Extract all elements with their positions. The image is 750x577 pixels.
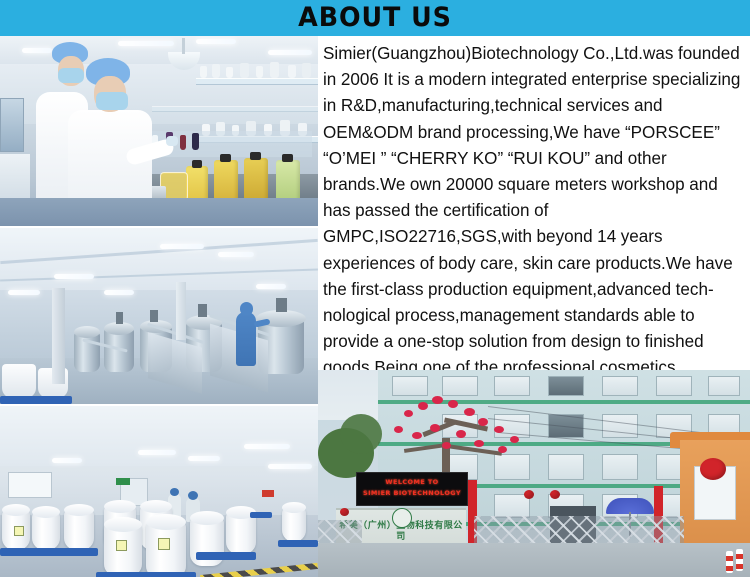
worker-in-blue-suit <box>236 312 256 366</box>
led-welcome-sign: WELCOME TO SIMIER BIOTECHNOLOGY <box>356 472 468 506</box>
traffic-cone <box>736 549 743 571</box>
factory-scene: WELCOME TO SIMIER BIOTECHNOLOGY 希美（广州）生物… <box>318 370 750 577</box>
lab-shelf <box>152 106 318 112</box>
barrel-lid <box>104 500 136 513</box>
lab-cabinet <box>0 98 24 152</box>
blue-pallet <box>0 396 72 404</box>
worker-hood <box>240 302 253 315</box>
ceiling-light <box>256 284 286 289</box>
face-mask <box>58 68 84 83</box>
barrel-lid <box>190 511 224 525</box>
laboratory-scene <box>0 36 318 226</box>
mixing-tank <box>74 332 100 372</box>
ceiling-light <box>52 458 82 463</box>
kapok-blossom <box>430 424 440 432</box>
production-workshop-photo <box>0 228 318 404</box>
about-us-page: ABOUT US <box>0 0 750 577</box>
bottle-cap <box>220 154 231 162</box>
driveway <box>318 543 750 577</box>
blue-pallet <box>96 572 196 577</box>
barrel-lid <box>146 514 186 530</box>
red-lantern <box>340 508 349 516</box>
gloved-hand <box>166 136 178 146</box>
exit-sign <box>116 478 130 485</box>
barrel-label <box>116 540 127 551</box>
about-us-banner: ABOUT US <box>0 0 750 36</box>
about-text-panel: Simier(Guangzhou)Biotechnology Co.,Ltd.w… <box>318 36 750 370</box>
face-mask <box>96 92 128 110</box>
barrel-lid <box>140 500 172 513</box>
ceiling-light <box>118 41 174 46</box>
bottle-cap <box>192 160 202 168</box>
reagent-bottle <box>288 65 296 78</box>
red-lantern <box>550 490 560 499</box>
reagent-bottle <box>240 63 249 78</box>
blue-pallet <box>196 552 256 560</box>
fire-sign <box>262 490 274 497</box>
building-window <box>602 414 638 438</box>
kapok-blossom <box>418 402 428 410</box>
warehouse-ceiling <box>0 406 318 466</box>
agitator-motor <box>198 304 207 317</box>
kapok-blossom <box>412 432 422 439</box>
kapok-blossom <box>478 418 488 426</box>
ceiling-light <box>244 444 290 449</box>
barrel-lid <box>282 502 306 513</box>
bottle-cap <box>282 154 293 162</box>
barrel-lid <box>32 506 60 518</box>
building-window <box>602 454 638 480</box>
building-window <box>708 376 740 396</box>
hood-stem <box>182 38 185 54</box>
laboratory-photo <box>0 36 318 226</box>
ceiling-light <box>22 48 52 53</box>
warehouse-scene <box>0 406 318 577</box>
kapok-blossom <box>448 400 458 408</box>
office-window <box>8 472 52 498</box>
ceiling-light <box>138 450 176 455</box>
facility-photo-column <box>0 36 318 577</box>
ceiling-light <box>196 39 236 44</box>
support-column <box>176 282 186 340</box>
kapok-blossom <box>474 440 484 447</box>
ceiling-light <box>188 456 220 461</box>
kapok-blossom <box>394 426 403 433</box>
barrel-lid <box>104 517 142 532</box>
blue-pallet <box>250 512 272 518</box>
lab-floor <box>0 198 318 226</box>
reagent-bottle <box>302 63 311 78</box>
red-lantern <box>524 490 534 499</box>
building-window <box>548 454 584 480</box>
kapok-blossom <box>464 408 475 416</box>
blue-pallet <box>0 548 98 556</box>
agitator-motor <box>116 312 123 324</box>
product-barrel <box>64 510 94 550</box>
led-sign-line1: WELCOME TO <box>357 473 467 488</box>
traffic-cone <box>726 551 733 573</box>
building-window <box>494 376 530 396</box>
production-scene <box>0 228 318 404</box>
kapok-blossom <box>510 436 519 443</box>
ceiling-light <box>160 244 204 249</box>
reagent-bottle <box>270 62 279 78</box>
building-window <box>494 454 530 480</box>
building-window <box>548 376 584 396</box>
building-window <box>656 376 692 396</box>
blue-pallet <box>278 540 318 547</box>
ceiling-light <box>268 464 312 469</box>
ceiling-light <box>54 274 94 279</box>
barrel-label <box>158 538 170 550</box>
building-window <box>442 376 478 396</box>
bottle-cap <box>250 152 261 160</box>
reagent-bottle <box>212 64 220 78</box>
kapok-blossom <box>442 442 451 449</box>
building-window <box>602 376 638 396</box>
reagent-bottle <box>226 67 233 78</box>
support-column <box>52 288 65 384</box>
ceiling-light <box>268 50 312 55</box>
mixing-tank-lid <box>74 326 100 338</box>
barrel-label <box>14 526 24 536</box>
company-emblem-icon <box>392 508 412 528</box>
led-sign-line2: SIMIER BIOTECHNOLOGY <box>357 488 467 499</box>
tree-foliage <box>340 414 382 454</box>
page-title: ABOUT US <box>23 1 728 35</box>
factory-exterior-photo: WELCOME TO SIMIER BIOTECHNOLOGY 希美（广州）生物… <box>318 370 750 577</box>
worker-cap <box>170 488 179 496</box>
kapok-blossom <box>456 430 466 438</box>
ceiling-light <box>104 290 134 295</box>
agitator-motor <box>150 310 158 322</box>
building-window <box>392 376 428 396</box>
ceiling-light <box>218 252 254 257</box>
red-lantern <box>700 458 726 480</box>
sample-bottle <box>192 133 199 150</box>
product-bucket <box>2 364 36 398</box>
product-barrel <box>282 508 306 542</box>
barrel-lid <box>2 504 30 516</box>
ceiling-light <box>8 290 40 295</box>
lab-shelf <box>196 78 318 85</box>
reagent-bottle <box>256 66 263 78</box>
sample-bottle <box>180 135 186 150</box>
agitator-motor <box>276 298 287 312</box>
kapok-blossom <box>498 446 507 453</box>
reagent-bottle <box>200 66 207 78</box>
kapok-blossom <box>404 410 413 417</box>
barrel-lid <box>64 504 94 516</box>
kapok-blossom <box>432 396 443 404</box>
kapok-blossom <box>494 426 504 433</box>
worker-cap <box>188 491 198 500</box>
warehouse-photo <box>0 406 318 577</box>
